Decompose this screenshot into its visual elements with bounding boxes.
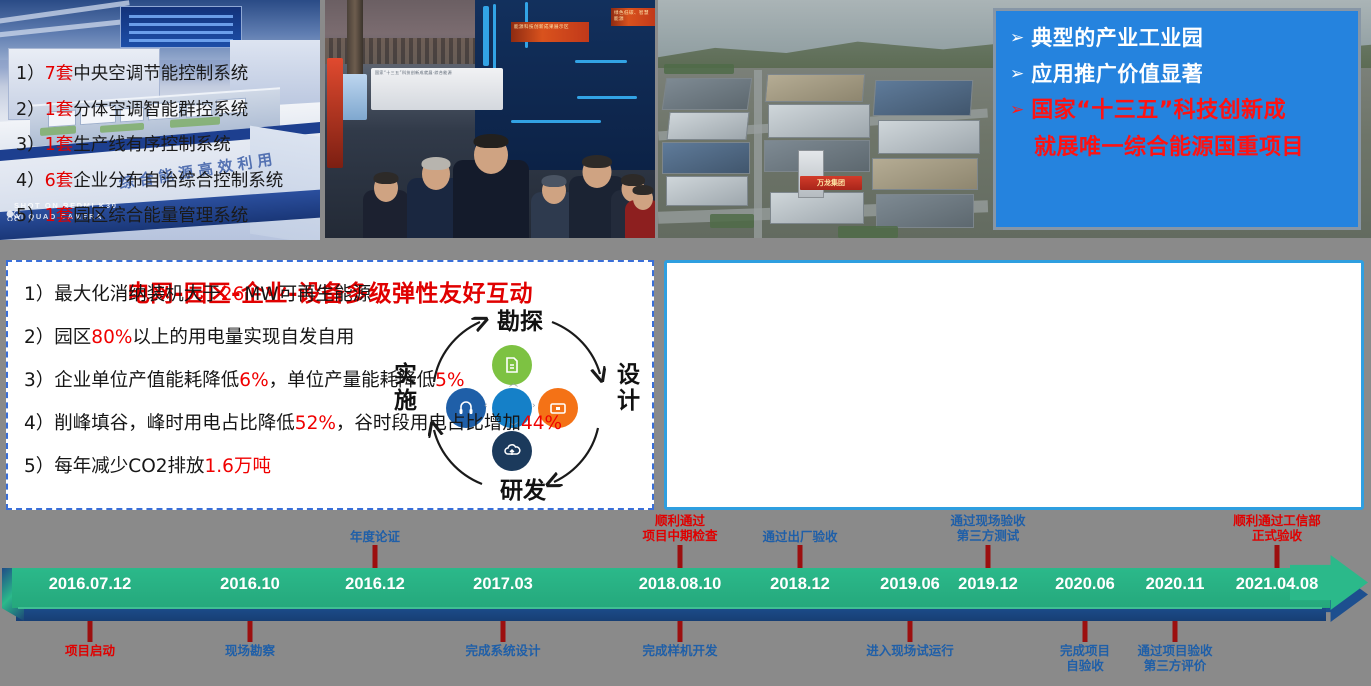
item-number: 5） <box>24 456 54 477</box>
timeline-label-line: 顺利通过 <box>642 513 717 528</box>
timeline-label-below: 通过项目验收第三方评价 <box>1137 643 1212 673</box>
timeline-label-above: 顺利通过项目中期检查 <box>642 513 717 543</box>
left-panel-list: 1）7套中央空调节能控制系统 2）1套分体空调智能群控系统 3）1套生产线有序控… <box>16 60 346 238</box>
item-count: 7套 <box>45 64 74 84</box>
list-item: 5）每年减少CO2排放1.6万吨 <box>24 452 684 478</box>
timeline-tick-up <box>1275 545 1280 568</box>
red-led-banner: 绿色低碳、智慧能源 <box>611 8 655 26</box>
timeline-label-line: 完成系统设计 <box>465 643 540 658</box>
factory-building <box>662 78 752 110</box>
item-text: ，单位产量能耗降低 <box>269 370 436 391</box>
list-item: 3）1套生产线有序控制系统 <box>16 131 346 156</box>
factory-building <box>667 112 750 140</box>
chevron-right-icon: ➢ <box>1010 25 1024 51</box>
factory-building <box>662 142 750 174</box>
item-number: 2） <box>24 327 54 348</box>
item-text: 以上的用电量实现自发自用 <box>132 327 354 348</box>
item-text: 园区 <box>54 327 91 348</box>
timeline-date: 2016.07.12 <box>49 575 132 594</box>
item-count: 1套 <box>45 100 74 120</box>
timeline-label-above: 通过出厂验收 <box>762 529 837 544</box>
red-led-banner: 能源科技创新成果展示区 <box>511 22 589 42</box>
timeline-label-line: 完成项目 <box>1060 643 1110 658</box>
timeline-arrow-head <box>1290 555 1368 633</box>
timeline-label-below: 完成系统设计 <box>465 643 540 658</box>
timeline-tick-down <box>248 621 253 642</box>
item-count: 6套 <box>45 171 74 191</box>
item-number: 1） <box>24 284 54 305</box>
item-text: 企业分布自治综合控制系统 <box>73 171 283 191</box>
company-sign-text: 万龙集团 <box>800 176 862 190</box>
timeline-tick-up <box>373 545 378 568</box>
timeline-label-below: 项目启动 <box>65 643 115 658</box>
timeline-date: 2018.12 <box>770 575 830 594</box>
timeline-label-above: 顺利通过工信部正式验收 <box>1233 513 1321 543</box>
list-item: 1）最大化消纳装机大于26MW可再生能源 <box>24 280 684 306</box>
factory-building <box>876 194 974 228</box>
timeline-label-line: 通过出厂验收 <box>762 529 837 544</box>
item-text: 最大化消纳装机大于 <box>54 284 221 305</box>
banner-text: 能源科技创新成果展示区 <box>511 22 589 32</box>
item-text: 分体空调智能群控系统 <box>73 100 248 120</box>
item-number: 2） <box>16 100 45 120</box>
item-count: 1套 <box>45 135 74 155</box>
timeline-tick-down <box>908 621 913 642</box>
greenery <box>838 226 898 238</box>
timeline-label-line: 进入现场试运行 <box>866 643 954 658</box>
item-number: 4） <box>24 413 54 434</box>
slide-canvas: 综合能源高效利用 SHOT ON REDMI K30 AI QUAD CAMER… <box>0 0 1371 686</box>
factory-tower <box>798 150 824 198</box>
greenery <box>664 64 734 74</box>
timeline-divider <box>18 607 1322 609</box>
chevron-right-icon: ➢ <box>1010 61 1024 87</box>
factory-building <box>768 104 870 138</box>
counter-text: 国家“十三五”科技创新成就展·综合能源 <box>371 68 503 78</box>
item-text: 削峰填谷，峰时用电占比降低 <box>54 413 295 434</box>
timeline-tick-up <box>678 545 683 568</box>
factory-building <box>666 176 748 206</box>
timeline-date: 2016.12 <box>345 575 405 594</box>
company-sign: 万龙集团 <box>800 176 862 190</box>
item-number: 3） <box>24 370 54 391</box>
list-item: 4）削峰填谷，峰时用电占比降低52%，谷时段用电占比增加44% <box>24 409 684 435</box>
item-number: 1） <box>16 64 45 84</box>
delegation-visit-photo: 能源科技创新成果展示区 绿色低碳、智慧能源 国家“十三五”科技创新成就展·综合能… <box>325 0 655 238</box>
callout-text-continuation: 就展唯一综合能源国重项目 <box>1034 133 1348 163</box>
timeline-date: 2020.06 <box>1055 575 1115 594</box>
timeline-label-below: 现场勘察 <box>225 643 275 658</box>
item-number: 4） <box>16 171 45 191</box>
item-highlight: 80% <box>91 327 132 348</box>
list-item: 5）1套园区综合能量管理系统 <box>16 202 346 227</box>
visitor <box>363 166 409 238</box>
callout-line: ➢ 典型的产业工业园 <box>1010 25 1348 52</box>
timeline-label-line: 现场勘察 <box>225 643 275 658</box>
banner-text: 绿色低碳、智慧能源 <box>611 8 655 24</box>
greenery <box>710 214 754 228</box>
callout-text: 典型的产业工业园 <box>1031 25 1203 52</box>
item-text: 每年减少CO2排放 <box>54 456 204 477</box>
item-number: 5） <box>16 206 45 226</box>
exhibit-counter: 国家“十三五”科技创新成就展·综合能源 <box>371 68 503 110</box>
item-text: 生产线有序控制系统 <box>73 135 231 155</box>
item-text: 企业单位产值能耗降低 <box>54 370 239 391</box>
list-item: 3）企业单位产值能耗降低6%，单位产量能耗降低5% <box>24 366 684 392</box>
factory-building <box>873 80 974 116</box>
timeline-date: 2018.08.10 <box>639 575 722 594</box>
list-item: 4）6套企业分布自治综合控制系统 <box>16 167 346 192</box>
timeline-date: 2021.04.08 <box>1236 575 1319 594</box>
timeline-tick-down <box>1173 621 1178 642</box>
item-highlight: 1.6万吨 <box>205 456 271 477</box>
timeline-tick-up <box>798 545 803 568</box>
timeline-label-line: 通过现场验收 <box>950 513 1025 528</box>
leader <box>453 120 529 238</box>
list-item: 2）1套分体空调智能群控系统 <box>16 96 346 121</box>
factory-building <box>878 120 980 154</box>
list-item: 2）园区80%以上的用电量实现自发自用 <box>24 323 684 349</box>
item-count: 1套 <box>45 206 74 226</box>
item-highlight: 5% <box>435 370 464 391</box>
factory-building <box>765 74 865 102</box>
item-text: MW可再生能源 <box>244 284 371 305</box>
timeline-tick-up <box>986 545 991 568</box>
timeline-label-above: 通过现场验收第三方测试 <box>950 513 1025 543</box>
key-points-callout: ➢ 典型的产业工业园 ➢ 应用推广价值显著 ➢ 国家“十三五”科技创新成 就展唯… <box>993 8 1361 230</box>
callout-line: ➢ 国家“十三五”科技创新成 <box>1010 97 1348 124</box>
timeline-label-line: 完成样机开发 <box>642 643 717 658</box>
item-highlight: 6% <box>239 370 268 391</box>
timeline-date: 2016.10 <box>220 575 280 594</box>
right-panel <box>664 260 1364 510</box>
timeline-tick-down <box>678 621 683 642</box>
timeline-label-above: 年度论证 <box>350 529 400 544</box>
visitor <box>625 180 655 238</box>
road <box>754 70 762 238</box>
item-text: 园区综合能量管理系统 <box>73 206 248 226</box>
timeline-label-line: 第三方测试 <box>950 528 1025 543</box>
project-timeline: 2016.07.12项目启动2016.10现场勘察2016.12年度论证2017… <box>0 515 1371 686</box>
booth-led-screen <box>120 6 242 48</box>
chevron-right-icon: ➢ <box>1010 97 1024 123</box>
item-highlight: 44% <box>521 413 562 434</box>
callout-text: 国家“十三五”科技创新成 <box>1031 97 1286 124</box>
timeline-date: 2019.06 <box>880 575 940 594</box>
list-item: 1）7套中央空调节能控制系统 <box>16 60 346 85</box>
timeline-tick-down <box>501 621 506 642</box>
timeline-label-below: 完成样机开发 <box>642 643 717 658</box>
timeline-date: 2017.03 <box>473 575 533 594</box>
item-highlight: 52% <box>295 413 336 434</box>
timeline-label-line: 第三方评价 <box>1137 658 1212 673</box>
callout-text: 应用推广价值显著 <box>1031 61 1203 88</box>
timeline-label-line: 正式验收 <box>1233 528 1321 543</box>
timeline-date: 2019.12 <box>958 575 1018 594</box>
right-panel-list: 1）最大化消纳装机大于26MW可再生能源 2）园区80%以上的用电量实现自发自用… <box>24 280 684 495</box>
timeline-label-below: 进入现场试运行 <box>866 643 954 658</box>
item-number: 3） <box>16 135 45 155</box>
timeline-label-line: 自验收 <box>1060 658 1110 673</box>
timeline-tick-down <box>88 621 93 642</box>
timeline-label-line: 项目中期检查 <box>642 528 717 543</box>
item-text: 中央空调节能控制系统 <box>73 64 248 84</box>
timeline-tick-down <box>1083 621 1088 642</box>
item-text: ，谷时段用电占比增加 <box>336 413 521 434</box>
timeline-label-line: 通过项目验收 <box>1137 643 1212 658</box>
callout-line: ➢ 应用推广价值显著 <box>1010 61 1348 88</box>
factory-building <box>872 158 978 190</box>
item-highlight: 26 <box>221 284 245 305</box>
timeline-date: 2020.11 <box>1146 575 1205 594</box>
timeline-label-line: 年度论证 <box>350 529 400 544</box>
timeline-label-below: 完成项目自验收 <box>1060 643 1110 673</box>
timeline-label-line: 项目启动 <box>65 643 115 658</box>
aerial-industrial-park-photo: 万龙集团 ➢ 典型的产业工业园 ➢ 应用推广价值显著 ➢ 国家“十三五”科技创新… <box>658 0 1371 238</box>
timeline-label-line: 顺利通过工信部 <box>1233 513 1321 528</box>
